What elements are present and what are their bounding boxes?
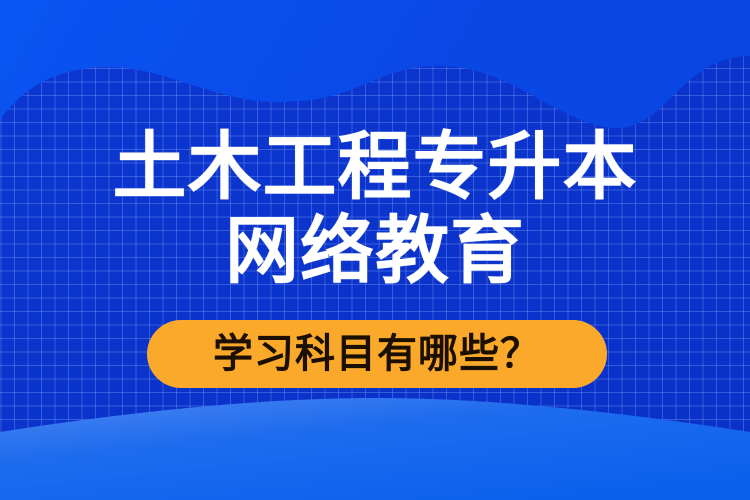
headline-line-2: 网络教育 bbox=[0, 208, 750, 294]
question-pill-label: 学习科目有哪些？ bbox=[213, 332, 541, 376]
banner-content: 土木工程专升本 网络教育 学习科目有哪些？ bbox=[0, 0, 750, 500]
promo-banner: 土木工程专升本 网络教育 学习科目有哪些？ bbox=[0, 0, 750, 500]
headline-line-1: 土木工程专升本 bbox=[0, 124, 750, 210]
question-pill-button[interactable]: 学习科目有哪些？ bbox=[147, 320, 607, 388]
